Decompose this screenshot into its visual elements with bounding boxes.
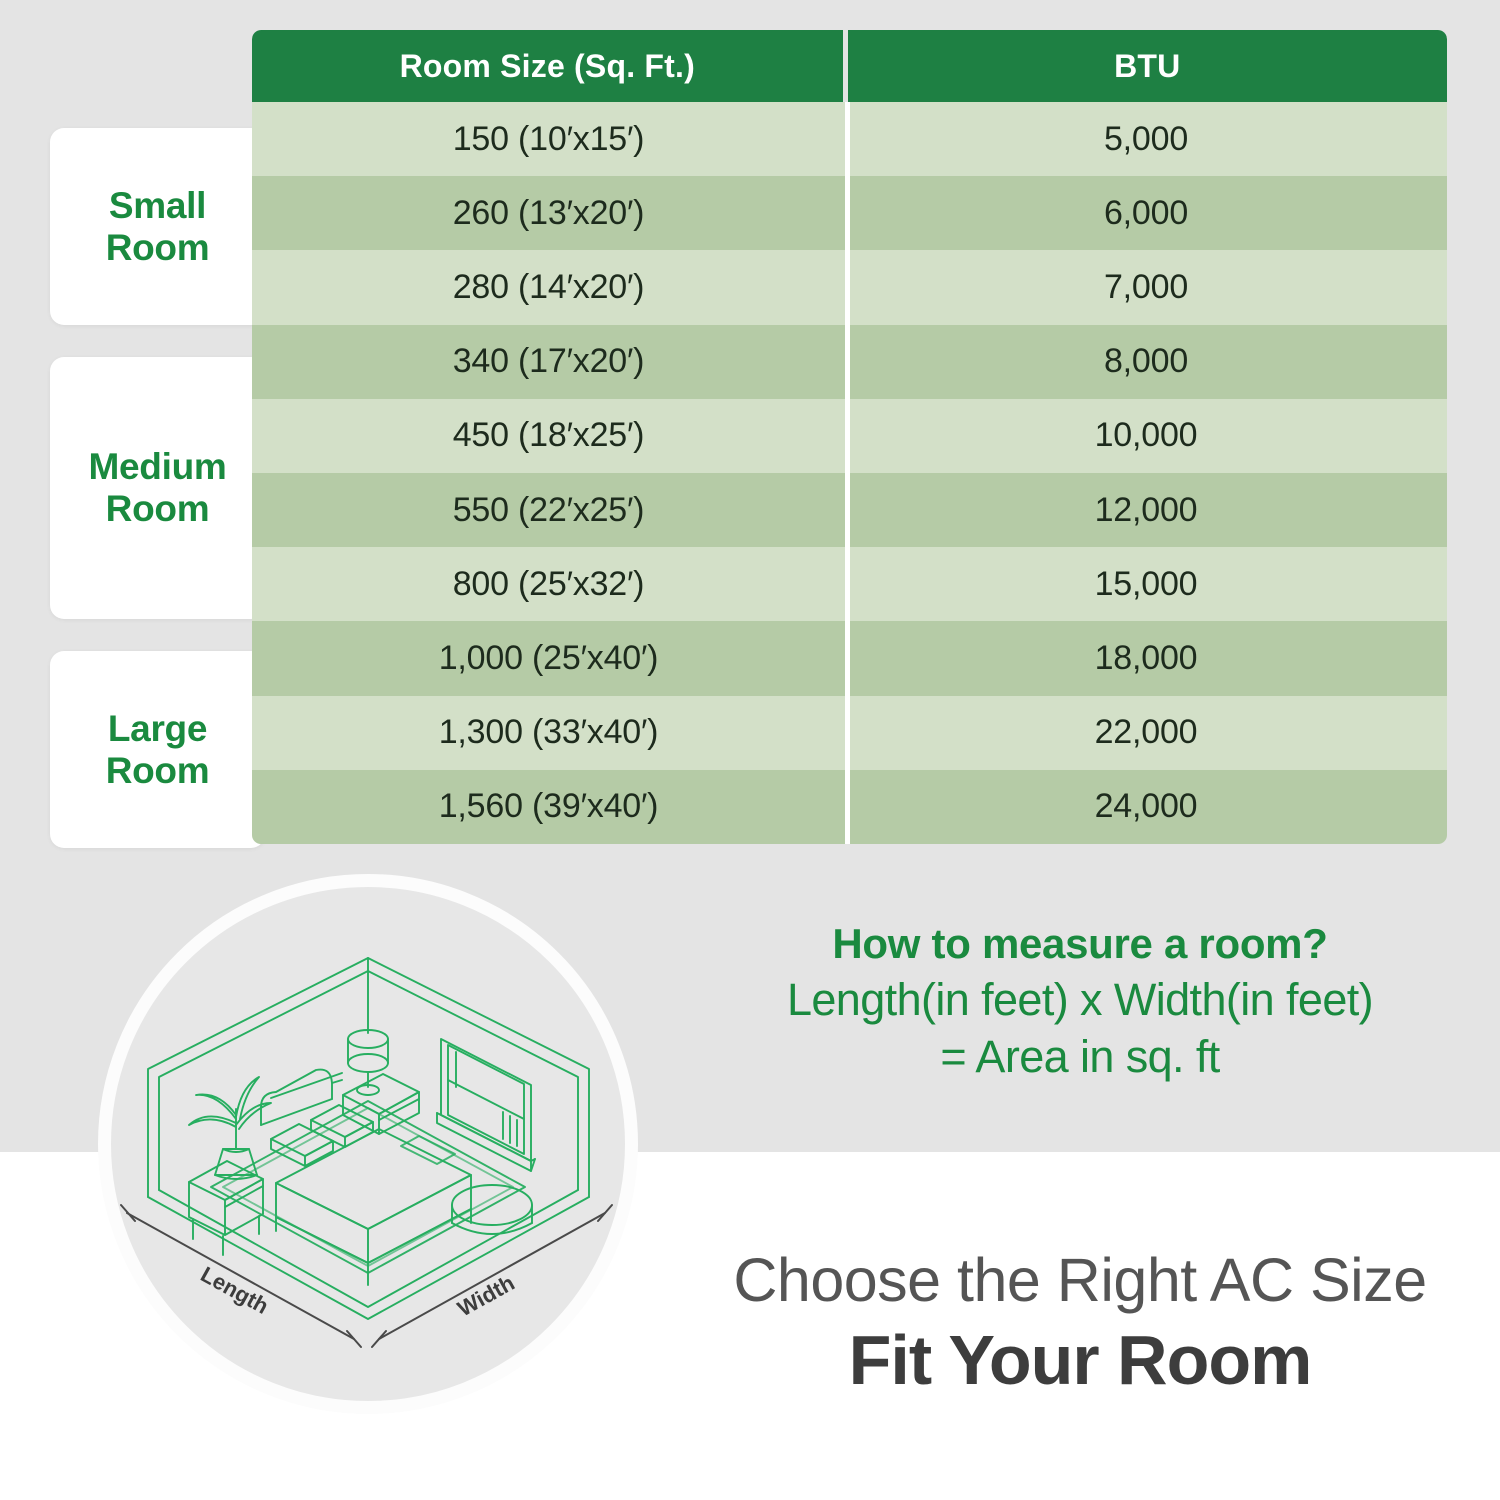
cell-btu: 5,000	[845, 102, 1447, 176]
table-row: 550 (22′x25′)12,000	[252, 473, 1447, 547]
category-label-line2: Room	[106, 488, 210, 529]
room-illustration-circle: Length Width	[98, 874, 638, 1414]
bed-icon	[276, 1129, 471, 1285]
category-card-small-room[interactable]: Small Room	[50, 128, 265, 325]
cell-room-size: 1,300 (33′x40′)	[252, 696, 845, 770]
isometric-room-illustration: Length Width	[111, 887, 625, 1401]
headline-block: Choose the Right AC Size Fit Your Room	[680, 1248, 1480, 1401]
table-row: 1,000 (25′x40′)18,000	[252, 621, 1447, 695]
table-row: 280 (14′x20′)7,000	[252, 250, 1447, 324]
category-label-small-room: Small Room	[106, 185, 210, 269]
table-header-row: Room Size (Sq. Ft.) BTU	[252, 30, 1447, 102]
cell-btu: 6,000	[845, 176, 1447, 250]
cell-room-size: 260 (13′x20′)	[252, 176, 845, 250]
btu-sizing-table: Room Size (Sq. Ft.) BTU 150 (10′x15′)5,0…	[252, 30, 1447, 844]
table-row: 260 (13′x20′)6,000	[252, 176, 1447, 250]
cell-room-size: 280 (14′x20′)	[252, 250, 845, 324]
cell-btu: 22,000	[845, 696, 1447, 770]
headline-bottom-line: Fit Your Room	[680, 1320, 1480, 1401]
table-row: 800 (25′x32′)15,000	[252, 547, 1447, 621]
cell-room-size: 450 (18′x25′)	[252, 399, 845, 473]
category-label-line2: Room	[106, 750, 210, 791]
length-dimension-label: Length	[197, 1262, 273, 1319]
table-header-room-size: Room Size (Sq. Ft.)	[252, 30, 843, 102]
category-label-line1: Large	[108, 708, 207, 749]
table-row: 450 (18′x25′)10,000	[252, 399, 1447, 473]
cell-room-size: 800 (25′x32′)	[252, 547, 845, 621]
category-label-large-room: Large Room	[106, 708, 210, 792]
headboard-icon	[261, 1070, 342, 1125]
cell-btu: 12,000	[845, 473, 1447, 547]
cell-room-size: 150 (10′x15′)	[252, 102, 845, 176]
category-label-medium-room: Medium Room	[89, 446, 227, 530]
cell-btu: 15,000	[845, 547, 1447, 621]
potted-plant-icon	[189, 1077, 271, 1179]
category-label-line1: Medium	[89, 446, 227, 487]
measure-formula-line1: Length(in feet) x Width(in feet)	[690, 971, 1470, 1029]
measure-formula-line2: = Area in sq. ft	[690, 1028, 1470, 1086]
cell-btu: 18,000	[845, 621, 1447, 695]
cell-room-size: 1,560 (39′x40′)	[252, 770, 845, 844]
cell-btu: 10,000	[845, 399, 1447, 473]
nightstand-right-icon	[343, 1074, 419, 1134]
window-icon	[437, 1039, 535, 1171]
infographic-root: Small Room Medium Room Large Room Room S…	[0, 0, 1500, 1500]
pillows-icon	[271, 1105, 373, 1166]
ottoman-icon	[452, 1185, 532, 1234]
category-card-medium-room[interactable]: Medium Room	[50, 357, 265, 619]
cell-btu: 8,000	[845, 325, 1447, 399]
cell-btu: 7,000	[845, 250, 1447, 324]
table-row: 1,560 (39′x40′)24,000	[252, 770, 1447, 844]
cell-room-size: 1,000 (25′x40′)	[252, 621, 845, 695]
dimension-arrows	[121, 1205, 612, 1347]
headline-top-line: Choose the Right AC Size	[680, 1248, 1480, 1314]
how-to-measure-heading: How to measure a room?	[690, 918, 1470, 971]
table-body: 150 (10′x15′)5,000260 (13′x20′)6,000280 …	[252, 102, 1447, 844]
width-dimension-label: Width	[453, 1270, 518, 1321]
table-row: 150 (10′x15′)5,000	[252, 102, 1447, 176]
cell-room-size: 340 (17′x20′)	[252, 325, 845, 399]
cell-room-size: 550 (22′x25′)	[252, 473, 845, 547]
cell-btu: 24,000	[845, 770, 1447, 844]
table-row: 340 (17′x20′)8,000	[252, 325, 1447, 399]
category-card-large-room[interactable]: Large Room	[50, 651, 265, 848]
category-label-line1: Small	[109, 185, 206, 226]
table-row: 1,300 (33′x40′)22,000	[252, 696, 1447, 770]
category-label-line2: Room	[106, 227, 210, 268]
table-header-btu: BTU	[848, 30, 1447, 102]
how-to-measure-block: How to measure a room? Length(in feet) x…	[690, 918, 1470, 1086]
